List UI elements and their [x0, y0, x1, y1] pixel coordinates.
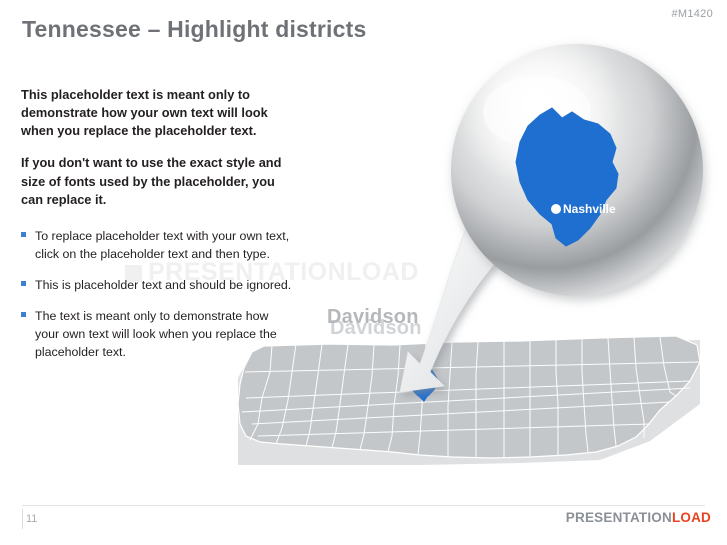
nashville-label: Nashville [563, 202, 616, 216]
page-title: Tennessee – Highlight districts [22, 16, 366, 43]
document-code: #M1420 [671, 8, 713, 20]
bullet-list: To replace placeholder text with your ow… [21, 227, 293, 362]
state-shadow [238, 340, 700, 465]
bullet-square-icon [21, 312, 26, 317]
bullet-square-icon [21, 281, 26, 286]
list-item: The text is meant only to demonstrate ho… [21, 307, 293, 361]
list-item-text: The text is meant only to demonstrate ho… [35, 309, 277, 359]
list-item: This is placeholder text and should be i… [21, 276, 293, 294]
nashville-dot [551, 204, 561, 214]
footer-left-rule [22, 509, 23, 529]
list-item-text: To replace placeholder text with your ow… [35, 229, 289, 261]
district-label: Davidson [327, 306, 419, 329]
text-column: This placeholder text is meant only to d… [21, 86, 293, 375]
brand-logo: PRESENTATIONLOAD [566, 510, 711, 525]
tennessee-state-map [238, 336, 700, 458]
davidson-county-enlarged [516, 108, 618, 246]
list-item-text: This is placeholder text and should be i… [35, 278, 291, 292]
county-lines [242, 337, 700, 458]
footer-divider [22, 505, 705, 506]
intro-paragraph-1: This placeholder text is meant only to d… [21, 86, 293, 140]
slide: Tennessee – Highlight districts #M1420 P… [0, 0, 727, 545]
brand-part-1: PRESENTATION [566, 510, 672, 525]
list-item: To replace placeholder text with your ow… [21, 227, 293, 263]
davidson-pointer-tail [418, 392, 428, 402]
state-outline [238, 336, 700, 458]
brand-part-2: LOAD [672, 510, 711, 525]
davidson-county-highlight [406, 364, 438, 396]
intro-paragraph-2: If you don't want to use the exact style… [21, 154, 293, 208]
globe-sphere [451, 44, 703, 296]
page-number: 11 [26, 513, 37, 525]
bullet-square-icon [21, 232, 26, 237]
